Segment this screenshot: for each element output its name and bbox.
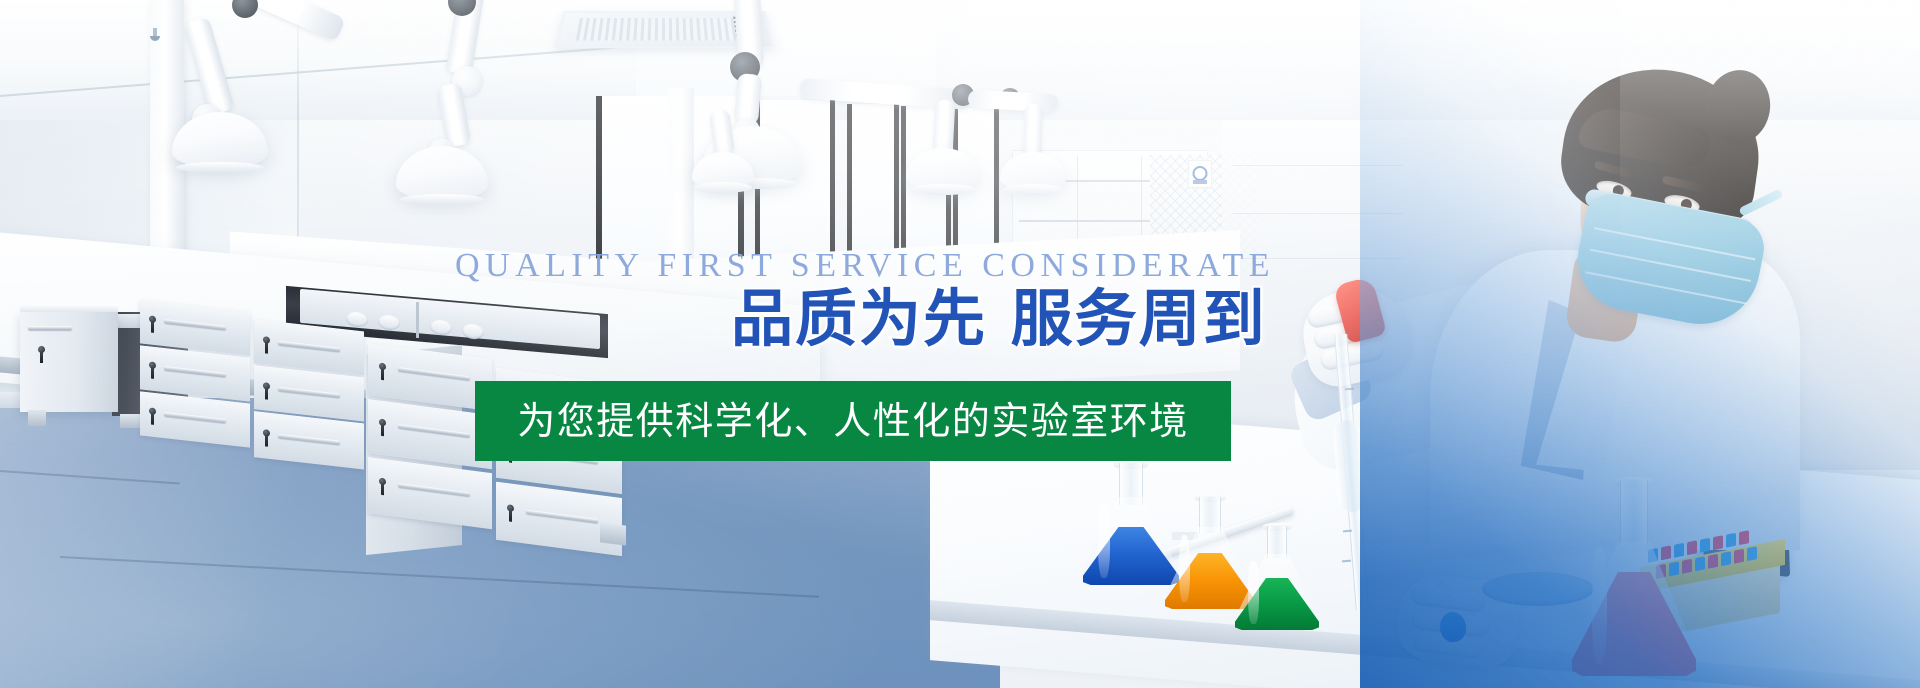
banner-eyebrow-english: QUALITY FIRST SERVICE CONSIDERATE [455,249,1275,283]
banner-subtitle-bar: 为您提供科学化、人性化的实验室环境 [475,381,1231,461]
hero-banner: QUALITY FIRST SERVICE CONSIDERATE 品质为先 服… [0,0,1920,688]
banner-subtitle-text: 为您提供科学化、人性化的实验室环境 [517,402,1189,440]
banner-headline-chinese: 品质为先 服务周到 [731,286,1267,353]
banner-copy: QUALITY FIRST SERVICE CONSIDERATE 品质为先 服… [0,0,1920,688]
